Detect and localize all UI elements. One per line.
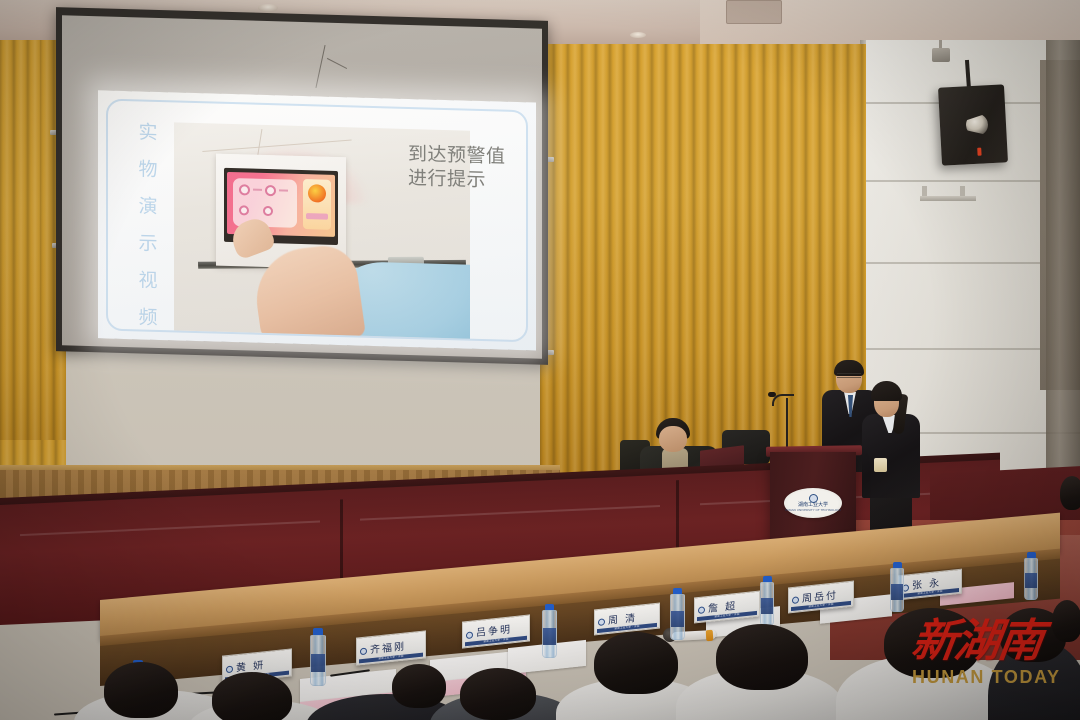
podium-microphone-stand xyxy=(786,398,788,450)
watermark: 新湖南 HUNAN TODAY xyxy=(912,620,1080,710)
photo-alert-bar xyxy=(306,213,328,220)
handheld-microphone-ring xyxy=(706,630,714,641)
podium-microphone-arm xyxy=(772,394,794,406)
nameplate-name: 齐福刚 xyxy=(370,642,406,656)
photo-display-card xyxy=(233,178,297,228)
ceiling-projector-icon xyxy=(932,48,950,62)
projection-screen: 实 物 演 示 视 频 xyxy=(56,7,548,365)
operator-head xyxy=(659,426,687,452)
slide-vtitle-char-6: 频 xyxy=(138,308,157,328)
projection-screen-surface: 实 物 演 示 视 频 xyxy=(62,15,542,358)
slide-vtitle-char-5: 视 xyxy=(138,271,157,291)
slide-vtitle-char-3: 演 xyxy=(138,197,157,217)
nameplate-seal-icon xyxy=(792,596,799,604)
slide-caption-line-2: 进行提示 xyxy=(408,167,532,194)
photo-display-dial xyxy=(265,185,276,196)
slide-vtitle-char-1: 实 xyxy=(138,123,157,143)
slide-caption-line-1: 到达预警值 xyxy=(408,143,532,170)
photo-display-dial xyxy=(239,184,250,195)
watermark-english: HUNAN TODAY xyxy=(912,667,1080,688)
screen-cable xyxy=(315,45,325,88)
held-cup xyxy=(874,458,887,472)
wall-bracket xyxy=(920,196,976,201)
podium-plaque-line-2: HUNAN UNIVERSITY OF TECHNOLOGY xyxy=(785,509,841,512)
photo-display-line xyxy=(279,189,288,191)
slide-border: 实 物 演 示 视 频 xyxy=(106,99,528,343)
podium-plaque: 湖南工业大学 HUNAN UNIVERSITY OF TECHNOLOGY xyxy=(784,488,842,518)
water-bottle xyxy=(890,562,904,612)
water-bottle xyxy=(310,628,326,686)
nameplate-org: 湖南工业大学 · 评委 xyxy=(359,653,423,664)
presentation-slide: 实 物 演 示 视 频 xyxy=(98,90,536,350)
water-bottle xyxy=(1024,552,1038,600)
speaker-cone xyxy=(965,113,988,136)
watermark-chinese: 新湖南 xyxy=(909,620,1080,663)
nameplate: 齐福刚 湖南工业大学 · 评委 xyxy=(356,630,426,665)
speaker-led-indicator xyxy=(977,148,981,156)
nameplate-seal-icon xyxy=(698,606,705,614)
ceiling-downlight-icon xyxy=(258,4,278,12)
water-bottle xyxy=(542,604,557,658)
stage-curtain-center xyxy=(540,44,866,476)
slide-caption-block: 到达预警值 进行提示 xyxy=(408,143,532,194)
nameplate-seal-icon xyxy=(598,618,605,626)
photo-display-line xyxy=(253,189,262,191)
water-bottle xyxy=(670,588,685,640)
wall-speaker-icon xyxy=(938,84,1008,165)
nameplate-seal-icon xyxy=(360,648,367,656)
photo-alert-indicator xyxy=(308,184,326,203)
auditorium-photo: 实 物 演 示 视 频 xyxy=(0,0,1080,720)
ceiling-vent-icon xyxy=(726,0,782,24)
screen-cable-segment xyxy=(327,58,347,69)
photo-display-dial xyxy=(239,205,249,215)
water-bottle xyxy=(760,576,774,626)
photo-display-dial xyxy=(263,206,273,216)
photo-display-alert-badge xyxy=(303,179,331,230)
slide-vtitle-char-2: 物 xyxy=(138,160,157,180)
presenter-female-hair xyxy=(871,381,902,401)
nameplate-seal-icon xyxy=(226,666,233,674)
presenter-male-glasses-icon xyxy=(837,373,861,378)
slide-vtitle-char-4: 示 xyxy=(138,234,157,254)
slide-vertical-title: 实 物 演 示 视 频 xyxy=(128,123,168,328)
ceiling-downlight-icon xyxy=(630,32,646,38)
nameplate-seal-icon xyxy=(466,631,473,639)
